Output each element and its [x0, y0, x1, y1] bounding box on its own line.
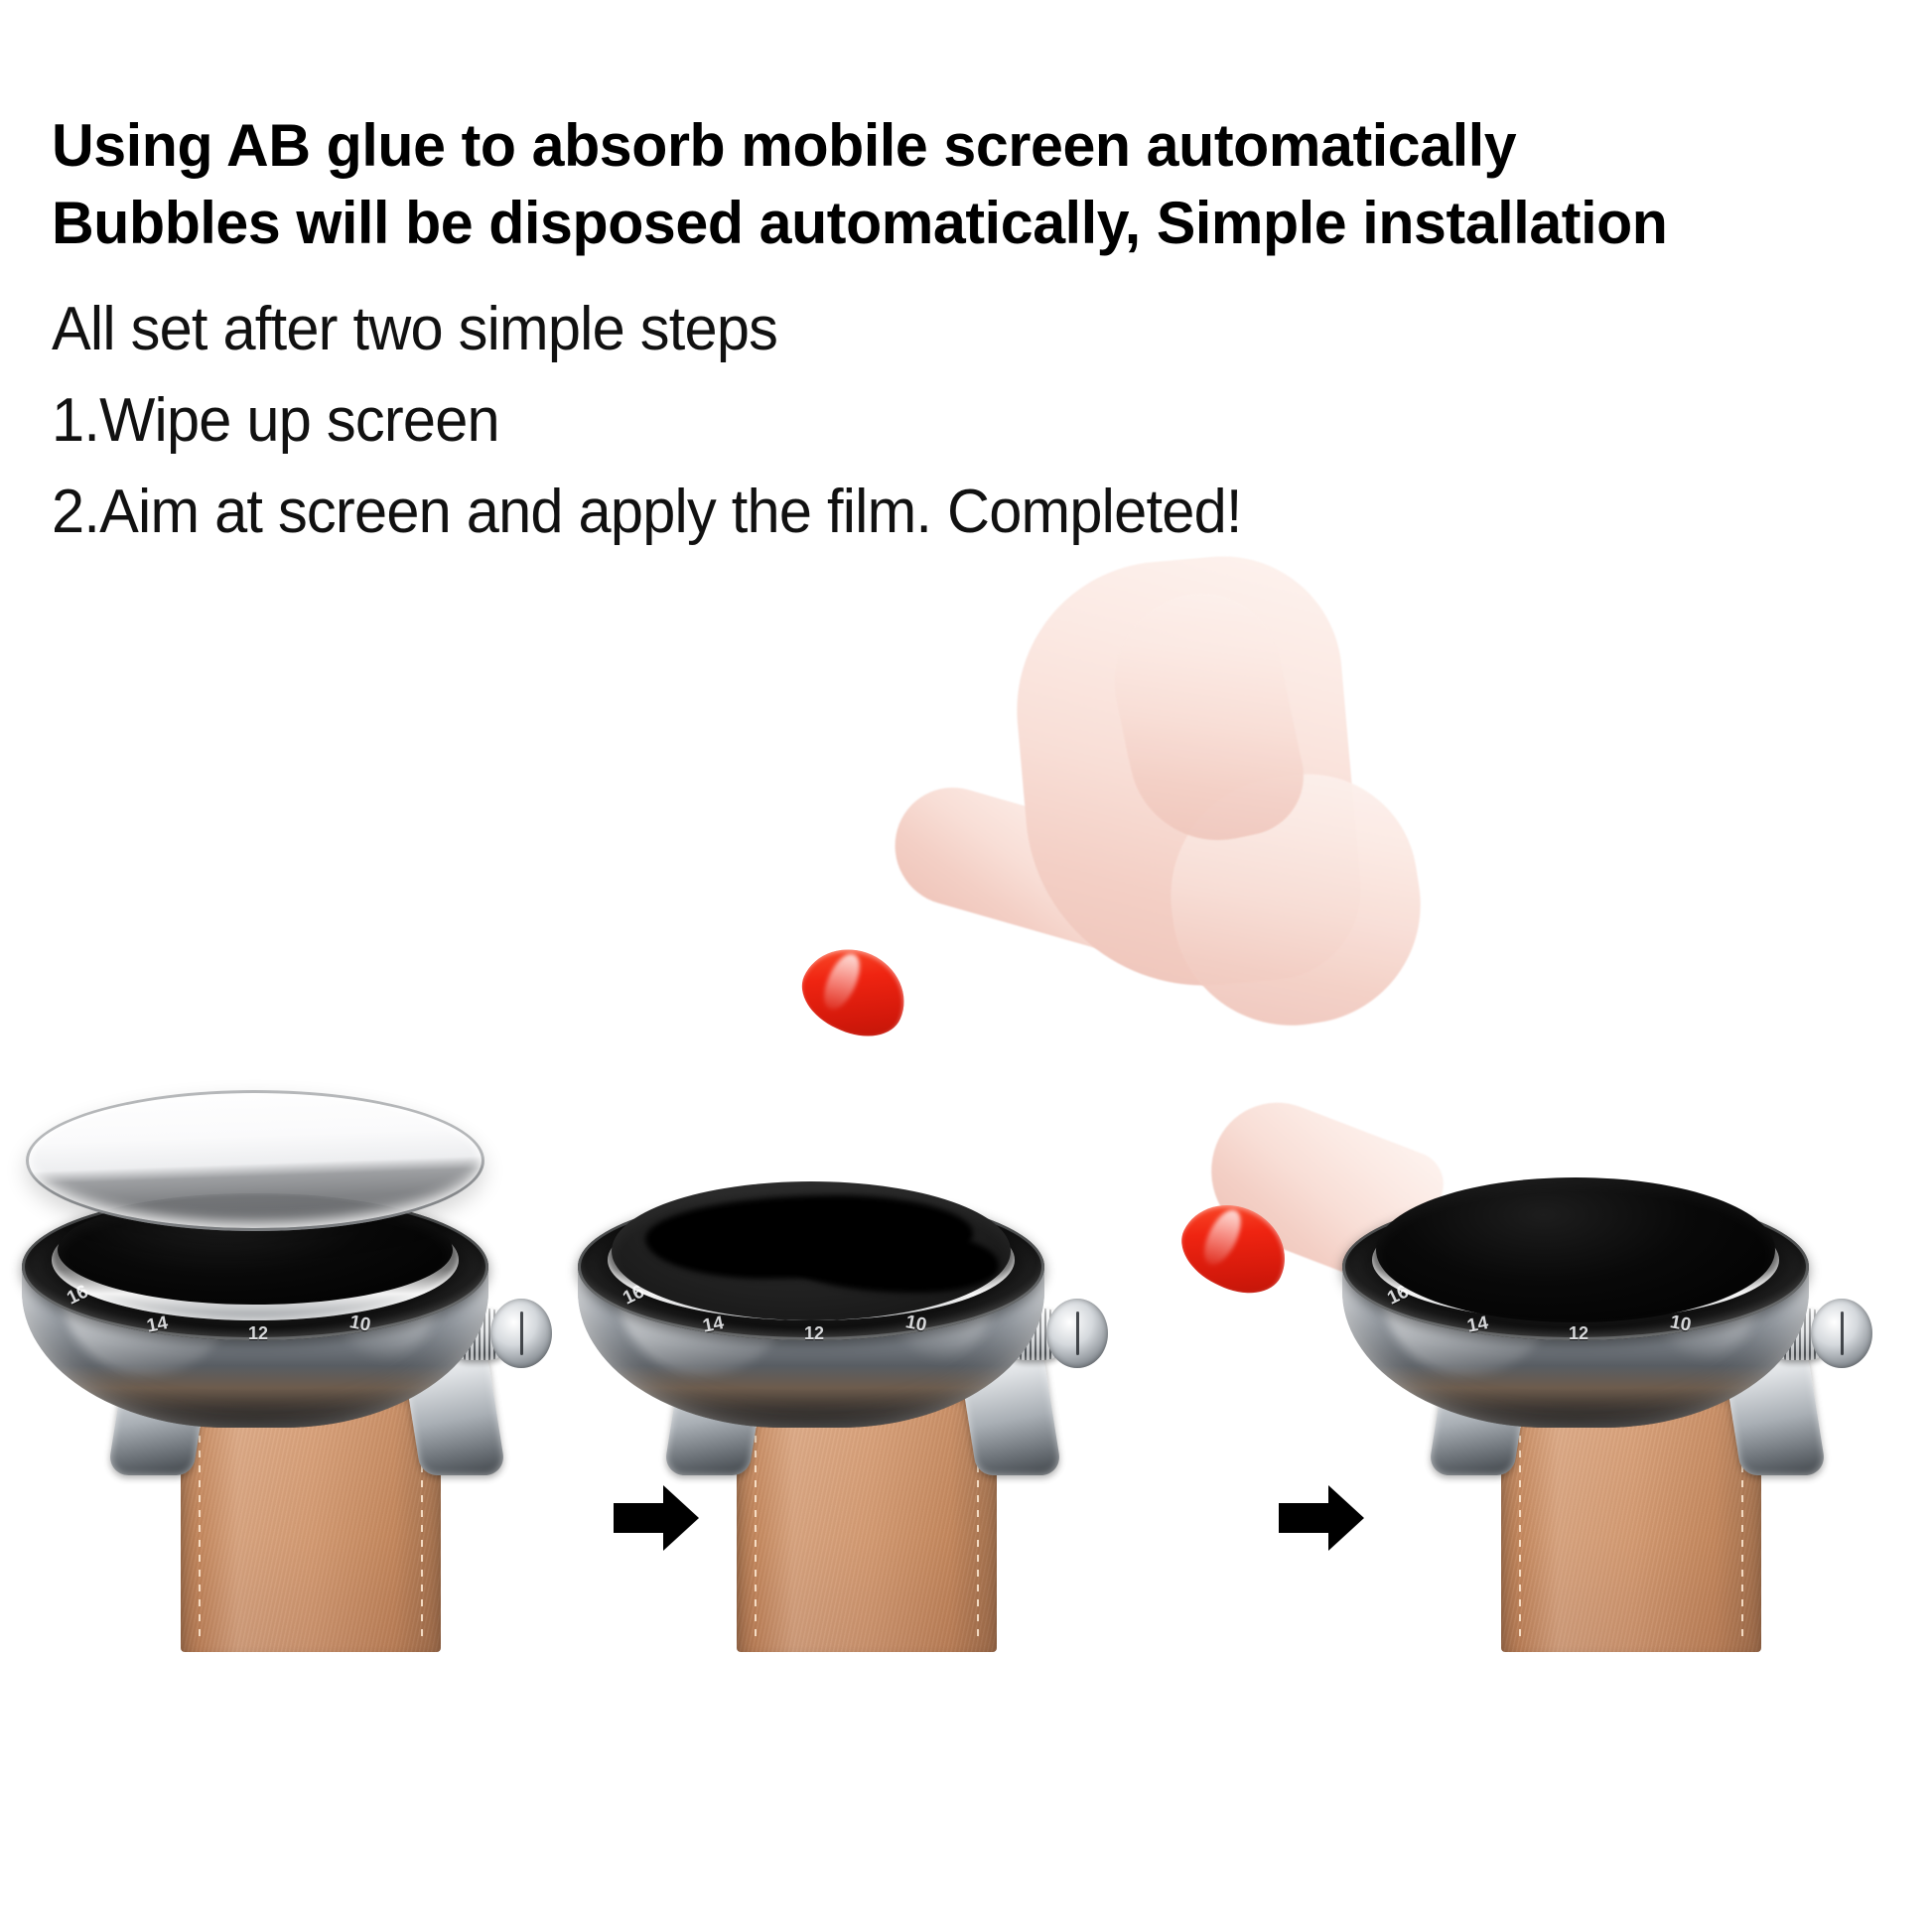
strap-stitching-left	[1519, 1406, 1521, 1641]
watch-strap	[737, 1396, 997, 1652]
bezel-number-12: 12	[804, 1323, 824, 1340]
bezel-number-10: 10	[347, 1311, 372, 1337]
step-1-watch: 16 14 12 10	[0, 1082, 616, 1598]
watch-crown-cap	[1811, 1299, 1872, 1368]
installation-illustration: 16 14 12 10	[0, 0, 1932, 1932]
nail-highlight	[1196, 1204, 1248, 1271]
fingernail-red-primary	[790, 933, 919, 1050]
bezel-number-14: 14	[701, 1312, 726, 1338]
watch-strap	[181, 1396, 441, 1652]
step-3-watch: 16 14 12 10	[1320, 1142, 1932, 1608]
watch-screen-protected	[1376, 1177, 1775, 1322]
strap-stitching-left	[755, 1406, 757, 1641]
strap-stitching-left	[199, 1406, 201, 1641]
watch-crown-cap	[490, 1299, 552, 1368]
bezel-number-12: 12	[1569, 1323, 1588, 1340]
watch-crown-cap	[1046, 1299, 1108, 1368]
bezel-number-10: 10	[903, 1311, 928, 1337]
bezel-number-10: 10	[1668, 1311, 1693, 1337]
bezel-number-12: 12	[248, 1323, 268, 1340]
watch-strap	[1501, 1396, 1761, 1652]
product-infographic: Using AB glue to absorb mobile screen au…	[0, 0, 1932, 1932]
bezel-number-14: 14	[145, 1312, 170, 1338]
nail-highlight	[817, 948, 867, 1015]
bezel-number-14: 14	[1465, 1312, 1490, 1338]
screen-protector-film-edge	[26, 1090, 484, 1231]
